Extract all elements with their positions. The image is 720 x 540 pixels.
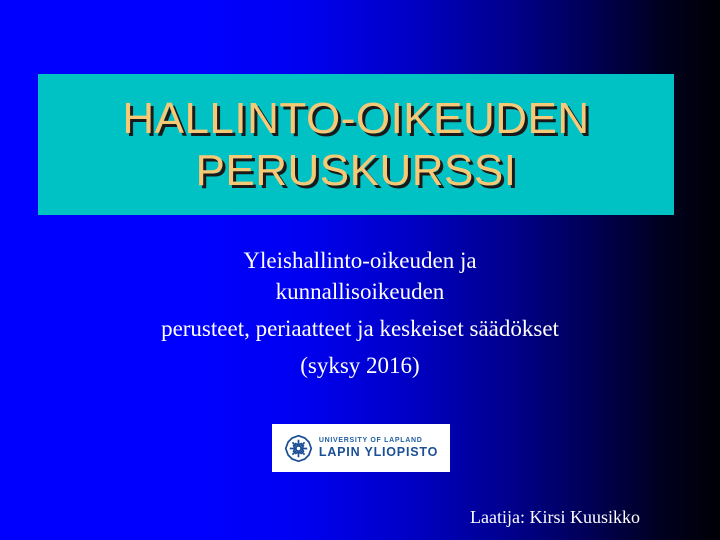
subtitle-line-3: (syksy 2016) [60, 350, 660, 381]
title-line-1: HALLINTO-OIKEUDEN [122, 93, 589, 145]
subtitle-line-2: perusteet, periaatteet ja keskeiset sääd… [60, 313, 660, 344]
logo-line-lapin-yliopisto: LAPIN YLIOPISTO [319, 446, 438, 459]
logo-text-block: UNIVERSITY OF LAPLAND LAPIN YLIOPISTO [319, 437, 438, 459]
title-banner: HALLINTO-OIKEUDEN PERUSKURSSI [38, 74, 674, 215]
university-logo: UNIVERSITY OF LAPLAND LAPIN YLIOPISTO [272, 424, 450, 472]
logo-line-university-of-lapland: UNIVERSITY OF LAPLAND [319, 437, 438, 444]
subtitle-block: Yleishallinto-oikeuden ja kunnallisoikeu… [60, 245, 660, 381]
title-line-2: PERUSKURSSI [196, 145, 517, 197]
author-attribution: Laatija: Kirsi Kuusikko [470, 506, 640, 528]
presentation-slide: HALLINTO-OIKEUDEN PERUSKURSSI Yleishalli… [0, 0, 720, 540]
subtitle-line-1: Yleishallinto-oikeuden ja kunnallisoikeu… [205, 245, 515, 307]
snowflake-icon [284, 434, 313, 463]
